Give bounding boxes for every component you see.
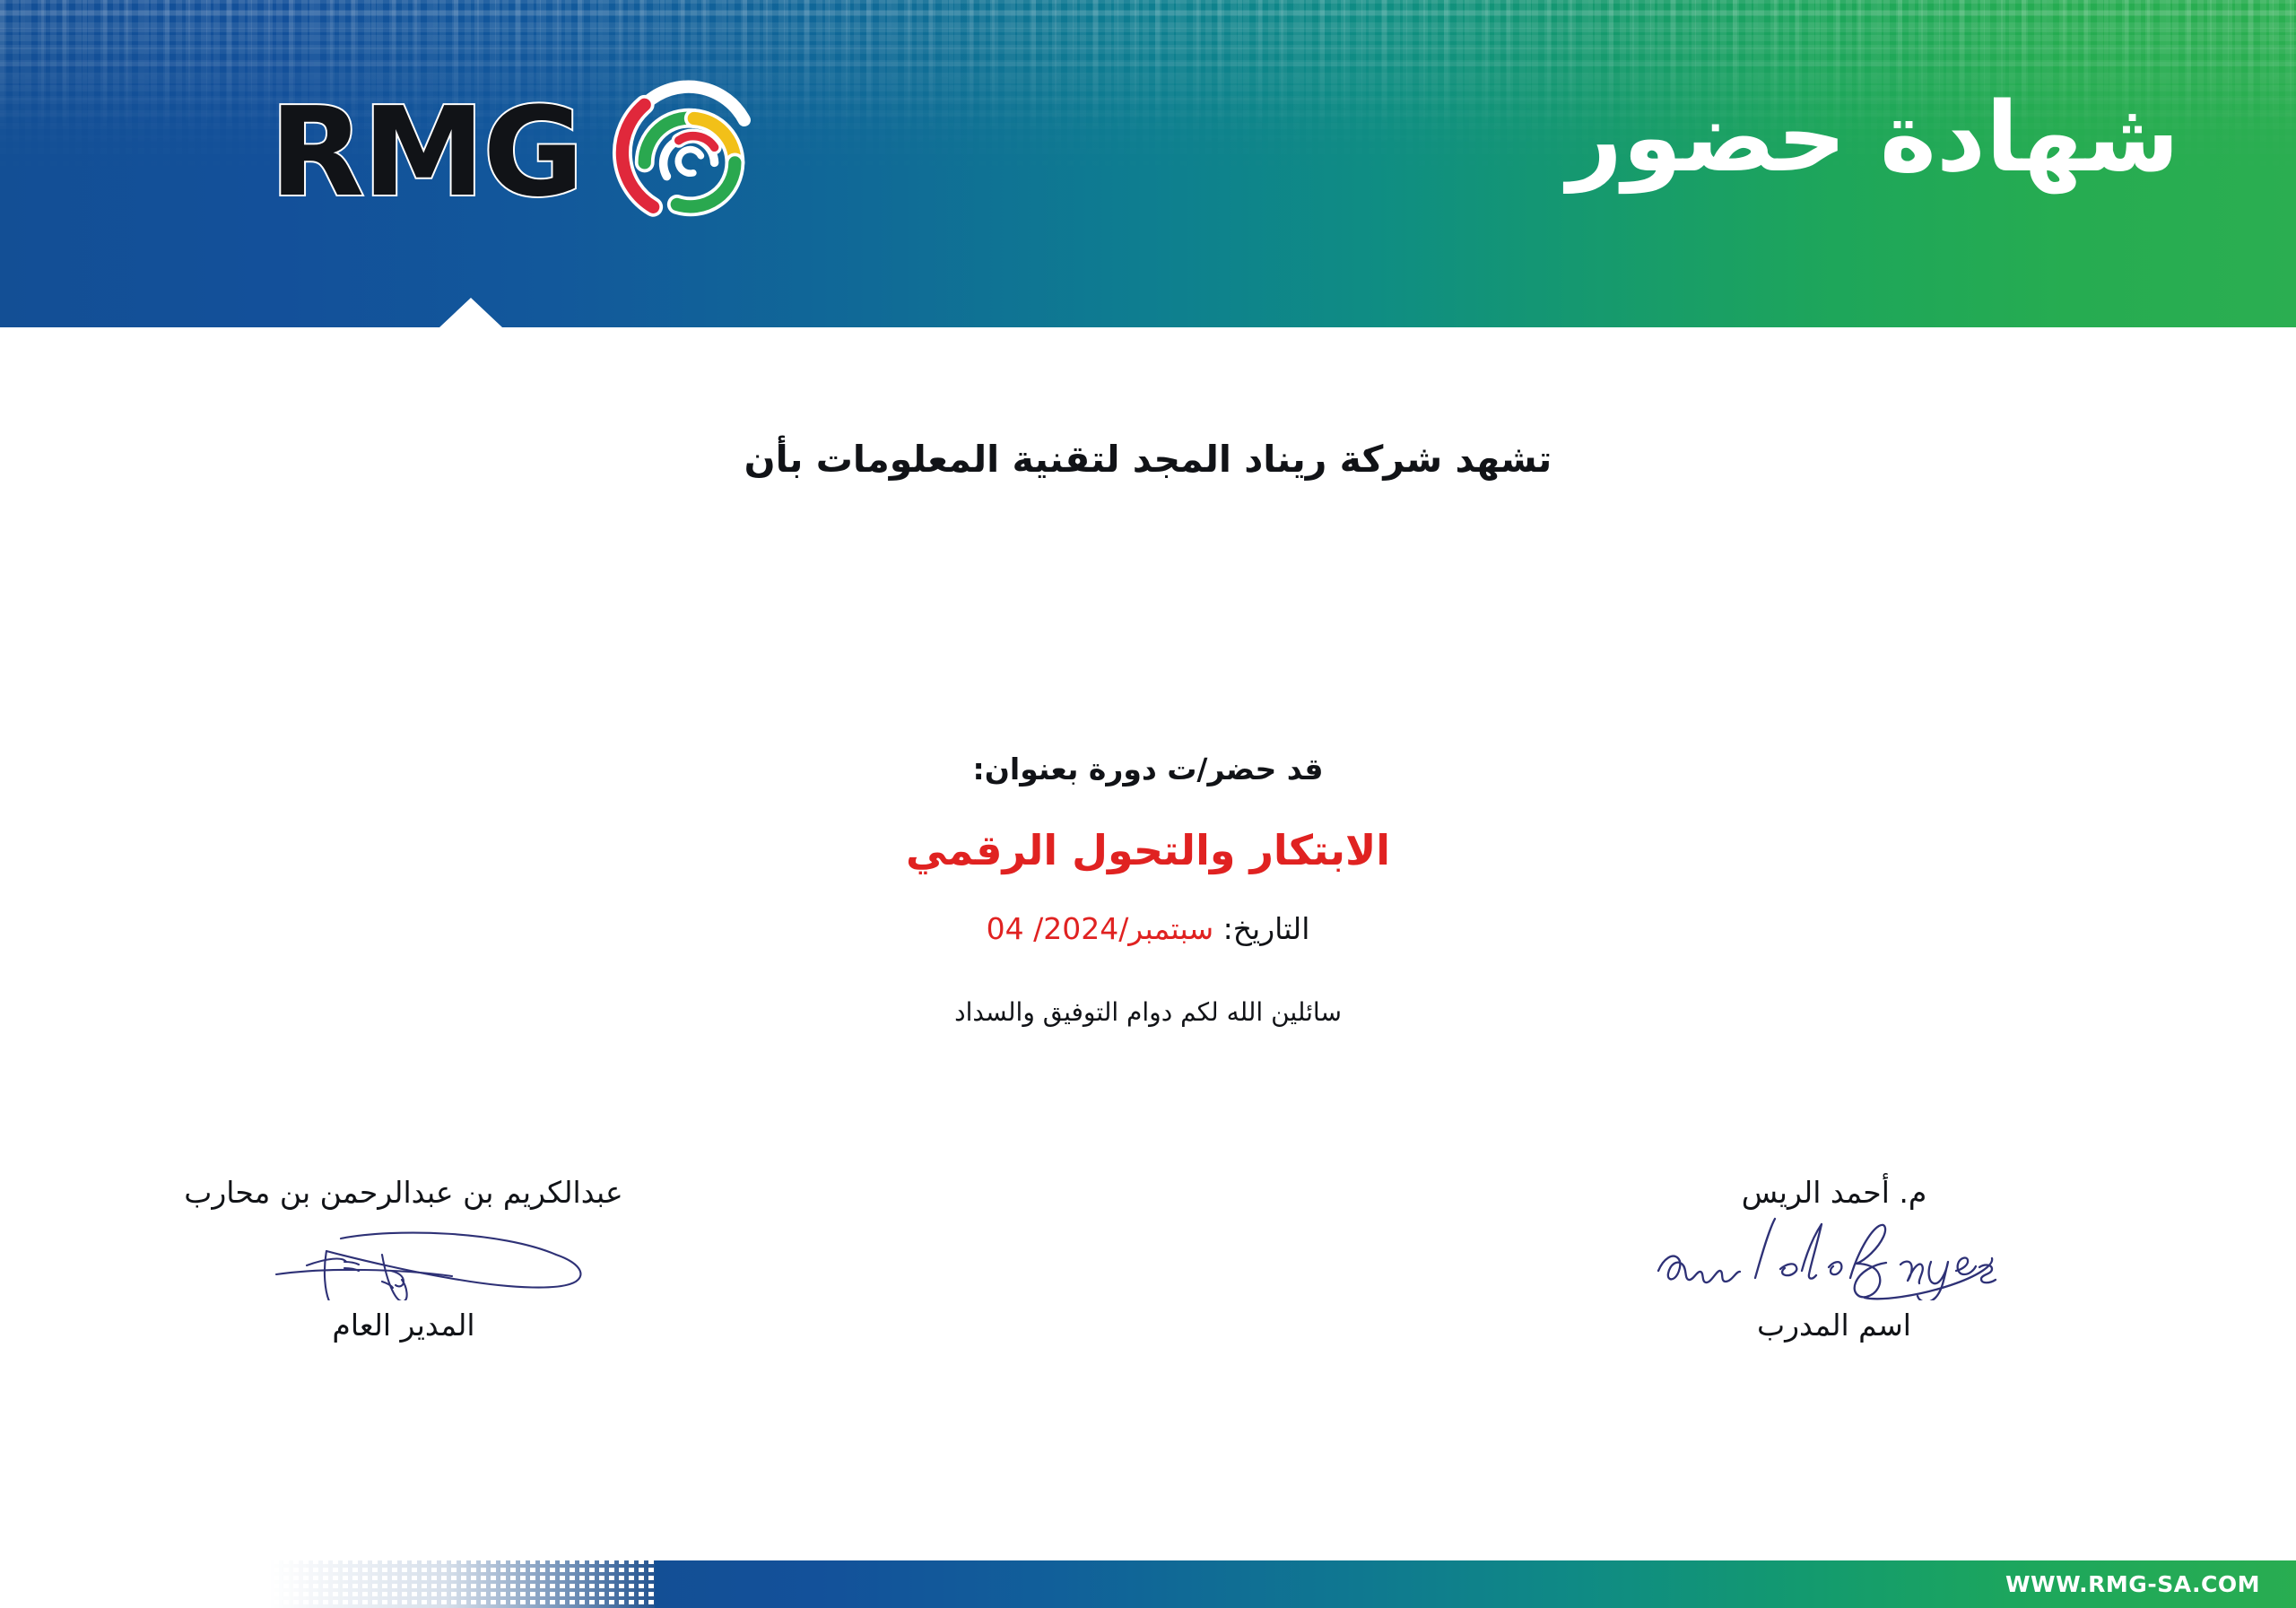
trainer-role-label: اسم المدرب bbox=[1511, 1308, 2157, 1343]
course-title: الابتكار والتحول الرقمي bbox=[0, 826, 2296, 874]
brand-wordmark: RMG bbox=[270, 91, 582, 214]
rmg-spiral-logo-icon bbox=[605, 67, 776, 238]
closing-statement: سائلين الله لكم دوام التوفيق والسداد bbox=[0, 997, 2296, 1027]
brand-logo: RMG bbox=[220, 67, 776, 238]
general-manager-signature-mark bbox=[81, 1215, 726, 1300]
signature-block-general-manager: عبدالكريم بن عبدالرحمن بن محارب المدير ا… bbox=[81, 1175, 726, 1343]
handwritten-signature-icon bbox=[206, 1215, 601, 1300]
footer-website-url: WWW.RMG-SA.COM bbox=[2005, 1571, 2260, 1597]
general-manager-role-label: المدير العام bbox=[81, 1308, 726, 1343]
trainer-name: م. أحمد الريس bbox=[1511, 1175, 2157, 1210]
footer-dot-fade-texture bbox=[269, 1560, 664, 1608]
certificate-page: RMG شهادة حضور تشهد شركة ريناد المجد لتق… bbox=[0, 0, 2296, 1608]
handwritten-signature-icon bbox=[1646, 1215, 2022, 1300]
course-date-line: التاريخ: 04 /سبتمبر/2024 bbox=[0, 911, 2296, 946]
certificate-body: تشهد شركة ريناد المجد لتقنية المعلومات ب… bbox=[0, 327, 2296, 1560]
date-value: 04 /سبتمبر/2024 bbox=[987, 911, 1214, 946]
certificate-title: شهادة حضور bbox=[1567, 79, 2179, 199]
issuer-statement: تشهد شركة ريناد المجد لتقنية المعلومات ب… bbox=[0, 438, 2296, 481]
signature-block-trainer: م. أحمد الريس اسم المدرب bbox=[1511, 1175, 2157, 1343]
trainer-signature-mark bbox=[1511, 1215, 2157, 1300]
attendance-label: قد حضر/ت دورة بعنوان: bbox=[0, 752, 2296, 787]
general-manager-name: عبدالكريم بن عبدالرحمن بن محارب bbox=[81, 1175, 726, 1210]
date-label: التاريخ: bbox=[1223, 911, 1310, 946]
